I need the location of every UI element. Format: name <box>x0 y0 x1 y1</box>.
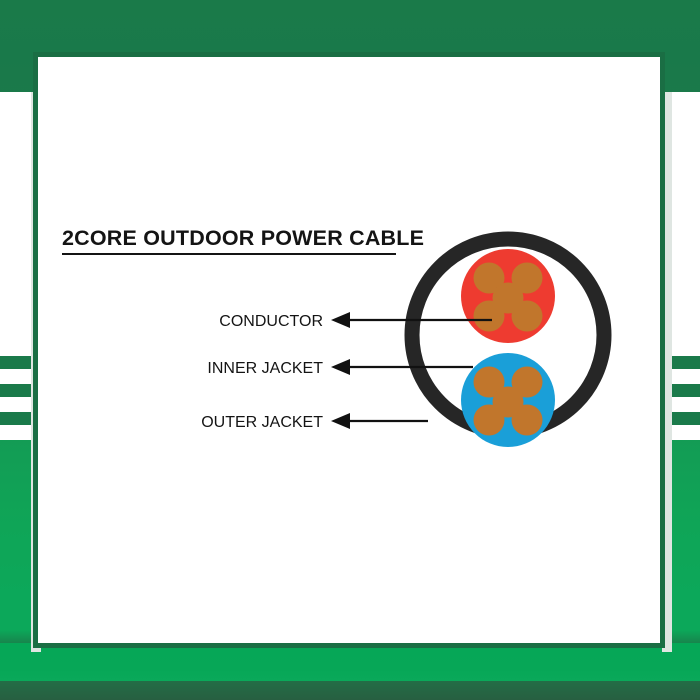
conductor-strand <box>474 301 505 332</box>
conductor-strand <box>512 301 543 332</box>
callout-label-outer-jacket: OUTER JACKET <box>201 414 323 431</box>
inner-jacket-arrow-head <box>331 359 350 375</box>
callout-label-conductor: CONDUCTOR <box>219 313 323 330</box>
conductor-strand <box>512 405 543 436</box>
conductor-arrow-head <box>331 312 350 328</box>
cable-diagram: CONDUCTOR INNER JACKET OUTER JACKET <box>0 0 700 700</box>
conductor-strand <box>474 405 505 436</box>
outer-jacket-arrow-head <box>331 413 350 429</box>
callout-label-inner-jacket: INNER JACKET <box>207 360 323 377</box>
poster-canvas: 2CORE OUTDOOR POWER CABLE CONDUCTOR INNE… <box>0 0 700 700</box>
